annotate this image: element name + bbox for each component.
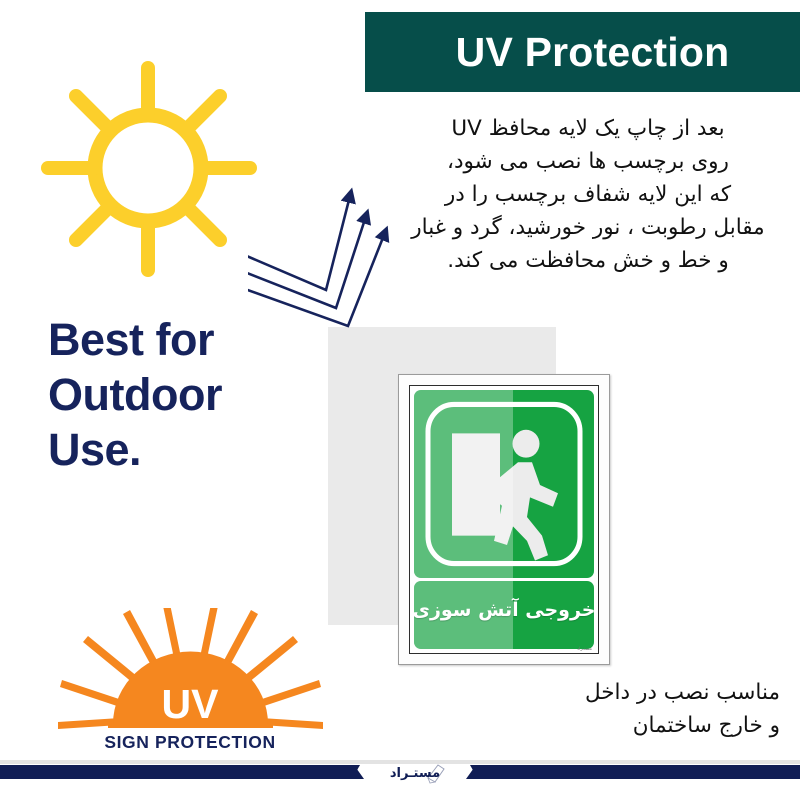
description-paragraph: بعد از چاپ یک لایه محافظ UV روی برچسب ها… (388, 112, 788, 277)
footer-logo-text: مستـراد (330, 752, 500, 792)
exit-sign-caption-panel: خروجی آتش سوزی (414, 581, 594, 649)
headline: Best for Outdoor Use. (48, 312, 318, 477)
uv-badge-subtitle: SIGN PROTECTION (104, 732, 275, 752)
installation-note-line-1: مناسب نصب در داخل (470, 676, 780, 709)
description-line-4: مقابل رطوبت ، نور خورشید، گرد و غبار (388, 211, 788, 244)
exit-sign-watermark: مستـراد (577, 647, 592, 652)
footer-brand-name: مستـراد (390, 766, 440, 781)
exit-sign-inner-frame: خروجی آتش سوزی مستـراد (409, 385, 599, 654)
installation-note: مناسب نصب در داخل و خارج ساختمان (470, 676, 790, 742)
description-line-2: روی برچسب ها نصب می شود، (388, 145, 788, 178)
headline-line-3: Use. (48, 422, 318, 477)
exit-sign-caption: خروجی آتش سوزی (414, 599, 594, 621)
headline-line-1: Best for (48, 312, 318, 367)
description-line-3: که این لایه شفاف برچسب را در (388, 178, 788, 211)
uv-sign-protection-badge: UV SIGN PROTECTION (58, 608, 323, 760)
description-line-5: و خط و خش محافظت می کند. (388, 244, 788, 277)
reflection-arrows-icon (248, 168, 398, 328)
exit-sign: خروجی آتش سوزی مستـراد (398, 374, 610, 665)
running-man-exit-icon (414, 390, 594, 578)
header-band: UV Protection (365, 12, 800, 92)
page-title: UV Protection (456, 32, 730, 73)
description-line-1: بعد از چاپ یک لایه محافظ UV (388, 112, 788, 145)
footer-logo: مستـراد (330, 752, 500, 792)
headline-line-2: Outdoor (48, 367, 318, 422)
sun-icon (28, 48, 268, 288)
exit-sign-pictogram-panel (414, 390, 594, 578)
uv-badge-uv-text: UV (162, 681, 220, 727)
poster-canvas: UV Protection بعد از چاپ یک لایه محافظ U… (0, 0, 800, 800)
installation-note-line-2: و خارج ساختمان (470, 709, 780, 742)
